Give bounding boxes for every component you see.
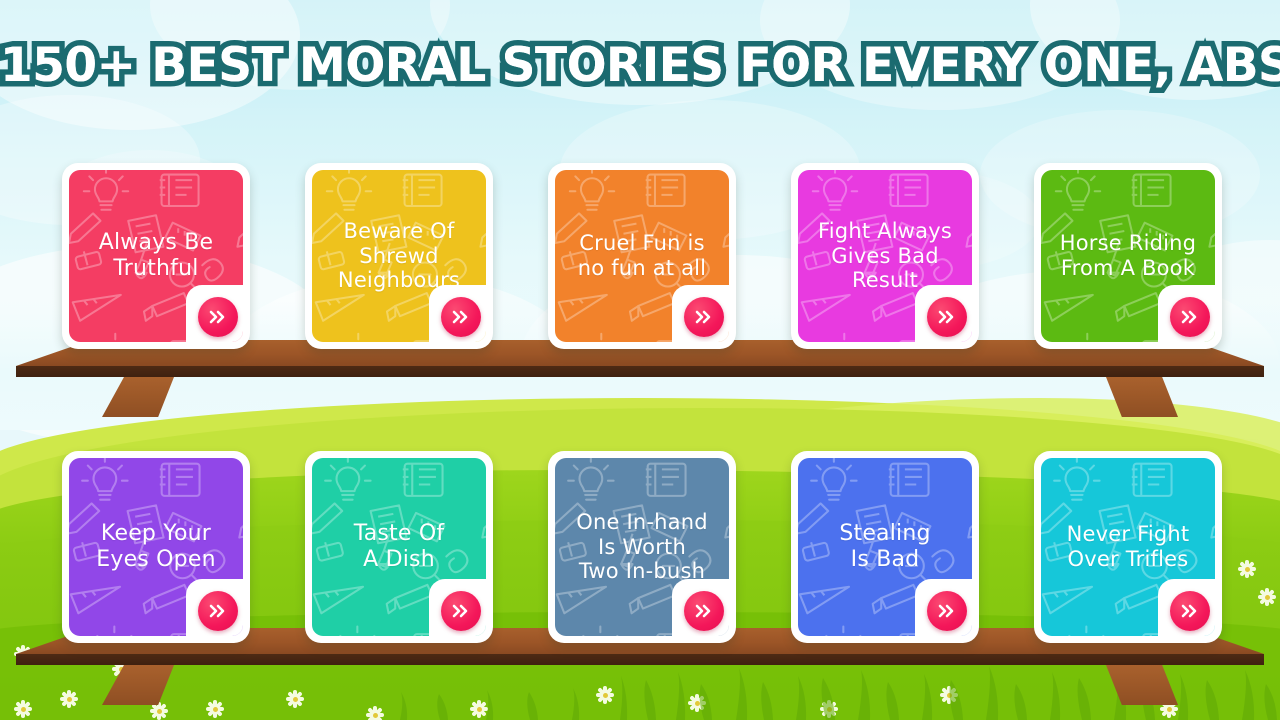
story-card-surface[interactable]: Stealing Is Bad xyxy=(791,451,979,643)
shelf-edge xyxy=(16,654,1264,665)
story-card[interactable]: Fight Always Gives Bad Result xyxy=(791,163,979,349)
story-card-surface[interactable]: Taste Of A Dish xyxy=(305,451,493,643)
story-card-title: Beware Of Shrewd Neighbours xyxy=(330,219,468,293)
shelf-bracket-left xyxy=(102,377,174,417)
story-card-surface[interactable]: Fight Always Gives Bad Result xyxy=(791,163,979,349)
story-card-body: Never Fight Over Trifles xyxy=(1041,458,1215,636)
double-chevron-right-icon[interactable] xyxy=(441,591,481,631)
top-shelf xyxy=(16,340,1264,418)
story-card-surface[interactable]: Always Be Truthful xyxy=(62,163,250,349)
story-card-surface[interactable]: Keep Your Eyes Open xyxy=(62,451,250,643)
double-chevron-right-icon[interactable] xyxy=(684,297,724,337)
story-card-title: Horse Riding From A Book xyxy=(1052,231,1204,281)
double-chevron-right-icon[interactable] xyxy=(927,591,967,631)
story-card-body: Fight Always Gives Bad Result xyxy=(798,170,972,342)
shelf-bracket-left xyxy=(102,665,174,705)
flower-icon xyxy=(1238,560,1256,578)
story-card[interactable]: Taste Of A Dish xyxy=(305,451,493,643)
shelf-edge xyxy=(16,366,1264,377)
double-chevron-right-icon[interactable] xyxy=(1170,591,1210,631)
flower-icon xyxy=(1258,588,1276,606)
story-card-body: Stealing Is Bad xyxy=(798,458,972,636)
double-chevron-right-icon[interactable] xyxy=(198,591,238,631)
story-card-body: Keep Your Eyes Open xyxy=(69,458,243,636)
story-card[interactable]: Never Fight Over Trifles xyxy=(1034,451,1222,643)
story-card[interactable]: Always Be Truthful xyxy=(62,163,250,349)
story-card[interactable]: Beware Of Shrewd Neighbours xyxy=(305,163,493,349)
story-card-title: Stealing Is Bad xyxy=(831,521,938,573)
story-card-title: Fight Always Gives Bad Result xyxy=(810,219,960,293)
double-chevron-right-icon[interactable] xyxy=(1170,297,1210,337)
shelf-bracket-right xyxy=(1106,665,1178,705)
story-card-body: Horse Riding From A Book xyxy=(1041,170,1215,342)
story-card-title: Always Be Truthful xyxy=(91,230,222,282)
story-card-title: Taste Of A Dish xyxy=(346,521,453,573)
story-card-body: Always Be Truthful xyxy=(69,170,243,342)
page-title-outline: 150+ BEST MORAL STORIES FOR EVERY ONE, A… xyxy=(0,38,1280,93)
story-card[interactable]: Stealing Is Bad xyxy=(791,451,979,643)
story-card-body: One In-hand Is Worth Two In-bush xyxy=(555,458,729,636)
story-card-surface[interactable]: Cruel Fun is no fun at all xyxy=(548,163,736,349)
double-chevron-right-icon[interactable] xyxy=(684,591,724,631)
story-card-title: One In-hand Is Worth Two In-bush xyxy=(568,510,716,584)
story-card-title: Never Fight Over Trifles xyxy=(1059,522,1198,572)
story-card-title: Keep Your Eyes Open xyxy=(88,521,223,573)
story-card-surface[interactable]: Beware Of Shrewd Neighbours xyxy=(305,163,493,349)
double-chevron-right-icon[interactable] xyxy=(441,297,481,337)
story-card[interactable]: Horse Riding From A Book xyxy=(1034,163,1222,349)
story-card[interactable]: One In-hand Is Worth Two In-bush xyxy=(548,451,736,643)
story-card[interactable]: Keep Your Eyes Open xyxy=(62,451,250,643)
story-card[interactable]: Cruel Fun is no fun at all xyxy=(548,163,736,349)
story-card-body: Taste Of A Dish xyxy=(312,458,486,636)
story-card-body: Cruel Fun is no fun at all xyxy=(555,170,729,342)
shelf-bracket-right xyxy=(1106,377,1178,417)
story-card-surface[interactable]: Never Fight Over Trifles xyxy=(1034,451,1222,643)
story-card-body: Beware Of Shrewd Neighbours xyxy=(312,170,486,342)
story-card-surface[interactable]: Horse Riding From A Book xyxy=(1034,163,1222,349)
story-card-title: Cruel Fun is no fun at all xyxy=(570,231,714,281)
story-card-surface[interactable]: One In-hand Is Worth Two In-bush xyxy=(548,451,736,643)
double-chevron-right-icon[interactable] xyxy=(927,297,967,337)
double-chevron-right-icon[interactable] xyxy=(198,297,238,337)
app-screen: Always Be TruthfulBeware Of Shrewd Neigh… xyxy=(0,0,1280,720)
